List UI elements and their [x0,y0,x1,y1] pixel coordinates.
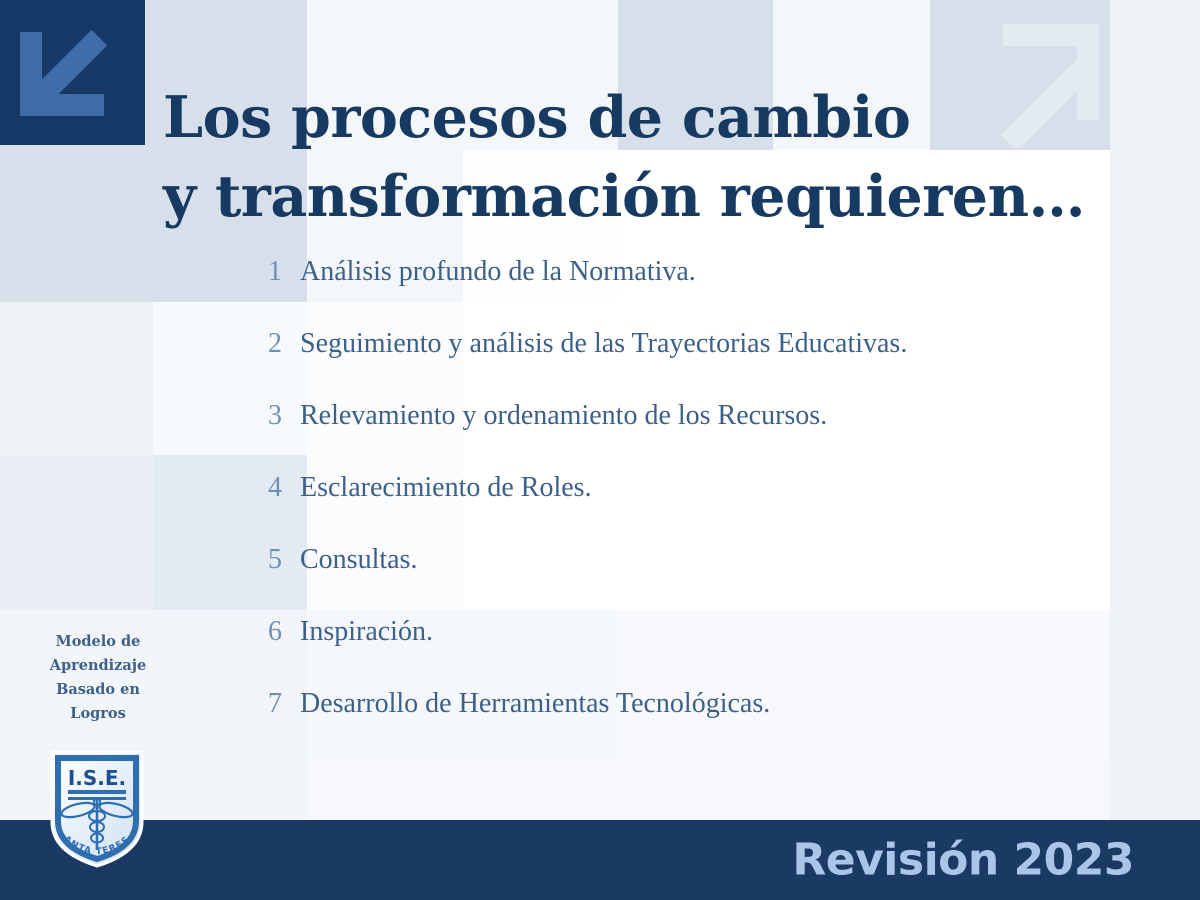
list-item-label: Relevamiento y ordenamiento de los Recur… [300,400,827,432]
requirements-list: 1 Análisis profundo de la Normativa. 2 S… [268,256,1168,760]
model-caption-line-4: Logros [10,702,186,726]
list-item-label: Consultas. [300,544,417,576]
list-item-label: Esclarecimiento de Roles. [300,472,592,504]
model-caption-line-1: Modelo de [10,630,186,654]
list-item-number: 1 [268,256,300,288]
list-item-label: Análisis profundo de la Normativa. [300,256,696,288]
list-item-label: Desarrollo de Herramientas Tecnológicas. [300,688,770,720]
list-item-number: 3 [268,400,300,432]
bg-tile [1110,0,1200,150]
list-item: 1 Análisis profundo de la Normativa. [268,256,1168,328]
bg-tile [307,760,1110,820]
list-item: 5 Consultas. [268,544,1168,616]
slide-canvas: Los procesos de cambio y transformación … [0,0,1200,900]
list-item-label: Seguimiento y análisis de las Trayectori… [300,328,907,360]
list-item-number: 2 [268,328,300,360]
list-item-number: 5 [268,544,300,576]
list-item: 4 Esclarecimiento de Roles. [268,472,1168,544]
brand-logo [0,0,145,145]
footer-bar: Revisión 2023 [0,820,1200,900]
page-title: Los procesos de cambio y transformación … [163,78,1123,236]
list-item: 6 Inspiración. [268,616,1168,688]
footer-revision-label: Revisión 2023 [792,835,1134,886]
ise-crest-logo: I.S.E. SANTA TERESA [48,748,146,870]
bg-tile [1110,760,1200,820]
bg-tile [0,150,153,302]
model-caption: Modelo de Aprendizaje Basado en Logros [10,630,186,726]
bg-tile [0,302,153,455]
list-item: 3 Relevamiento y ordenamiento de los Rec… [268,400,1168,472]
title-line-1: Los procesos de cambio [163,84,910,151]
list-item: 2 Seguimiento y análisis de las Trayecto… [268,328,1168,400]
list-item: 7 Desarrollo de Herramientas Tecnológica… [268,688,1168,760]
list-item-number: 7 [268,688,300,720]
title-line-2: y transformación requieren… [163,157,1123,236]
model-caption-line-3: Basado en [10,678,186,702]
list-item-number: 4 [268,472,300,504]
list-item-number: 6 [268,616,300,648]
crest-initials: I.S.E. [68,766,126,790]
bg-tile [0,455,153,610]
bg-tile [0,760,307,820]
list-item-label: Inspiración. [300,616,433,648]
model-caption-line-2: Aprendizaje [10,654,186,678]
